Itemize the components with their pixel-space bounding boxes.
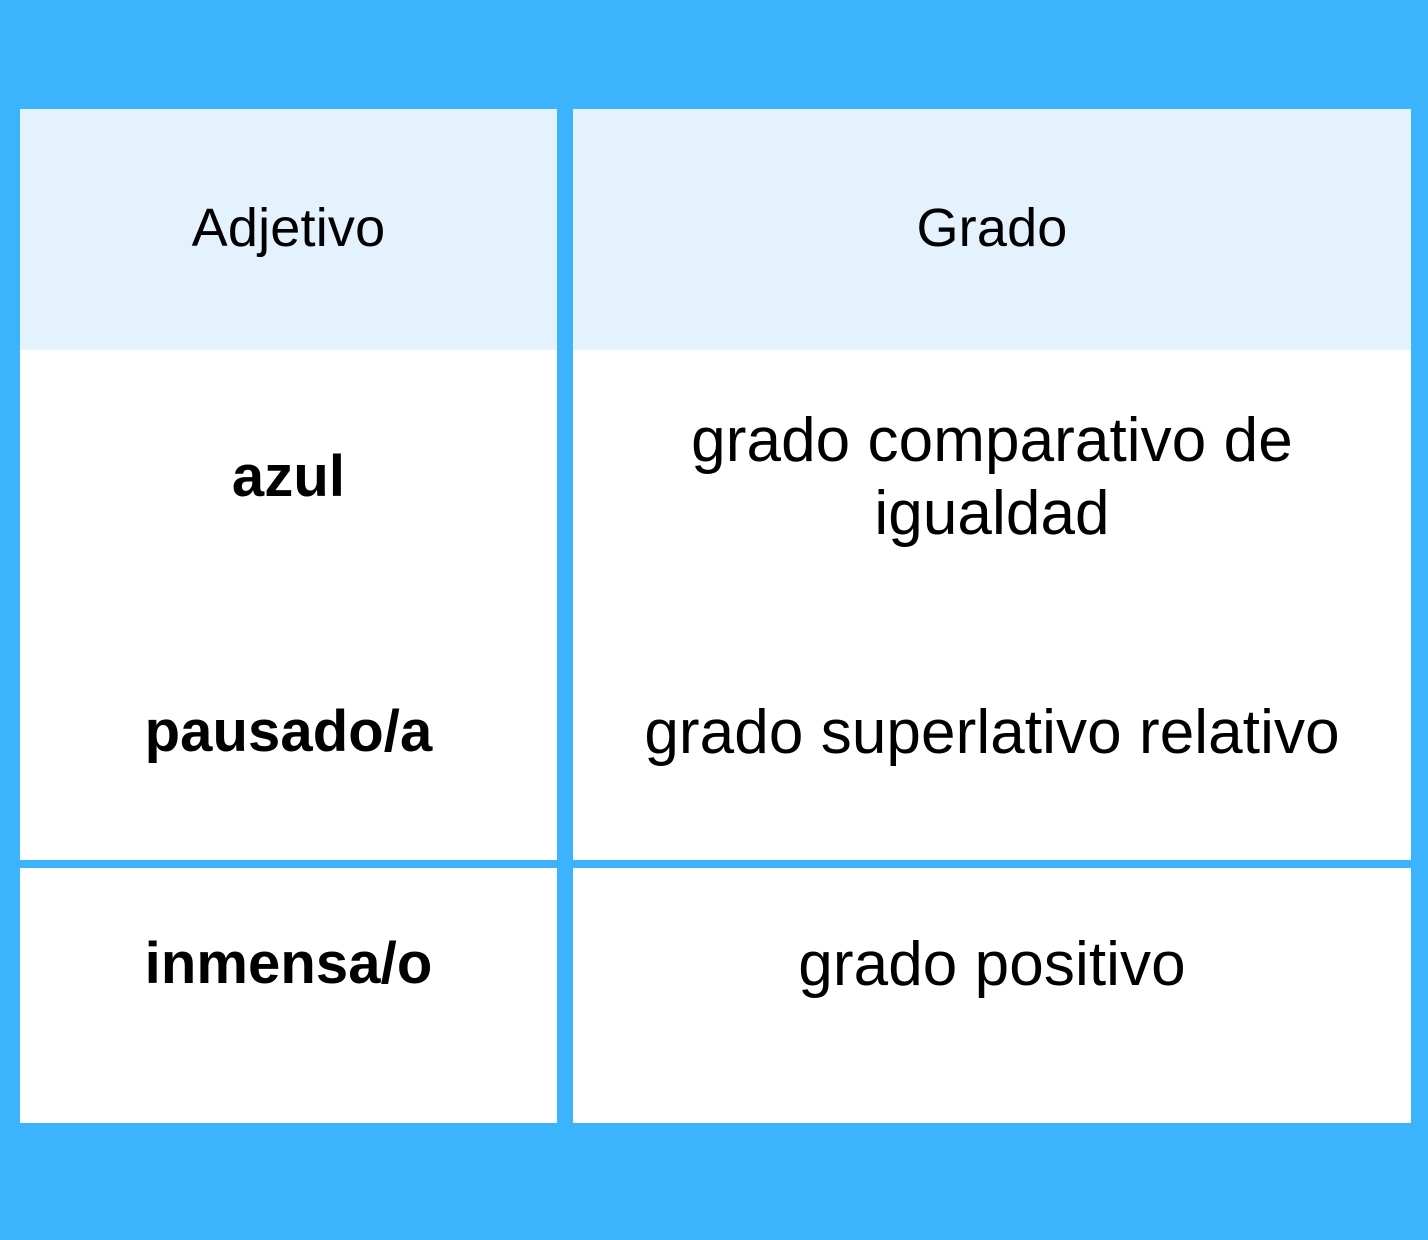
adjective-grade-table: Adjetivo Grado azul	[20, 116, 1411, 1123]
cell-grado-row-2: grado superlativo relativo	[573, 612, 1411, 867]
cell-adjetivo-row-3: inmensa/o	[20, 868, 573, 1123]
table-head: Adjetivo Grado	[20, 116, 1411, 357]
adjetivo-cell-wrapper-2: pausado/a	[20, 605, 557, 860]
column-header-adjetivo: Adjetivo	[20, 116, 573, 357]
cell-grado-row-1: grado comparativo de igualdad	[573, 357, 1411, 612]
table-row: pausado/a grado superlativo relativo	[20, 612, 1411, 867]
column-header-grado: Grado	[573, 116, 1411, 357]
column-header-grado-label: Grado	[587, 197, 1397, 261]
adjetivo-value-1: azul	[34, 443, 543, 511]
column-header-adjetivo-label: Adjetivo	[34, 197, 543, 261]
cell-adjetivo-row-1: azul	[20, 357, 573, 612]
adjetivo-cell-wrapper-1: azul	[20, 350, 557, 605]
table-row: azul grado comparativo de igualdad	[20, 357, 1411, 612]
grado-cell-wrapper-1: grado comparativo de igualdad	[573, 350, 1411, 605]
grado-cell-wrapper-3: grado positivo	[573, 868, 1411, 1123]
cell-grado-row-3: grado positivo	[573, 868, 1411, 1123]
table-row: inmensa/o grado positivo	[20, 868, 1411, 1123]
grado-value-2: grado superlativo relativo	[587, 696, 1397, 769]
grado-cell-wrapper-2: grado superlativo relativo	[573, 605, 1411, 860]
adjetivo-value-3: inmensa/o	[34, 930, 543, 998]
grado-value-3: grado positivo	[587, 928, 1397, 1001]
table-body: azul grado comparativo de igualdad pausa…	[20, 357, 1411, 1123]
grado-value-1: grado comparativo de igualdad	[587, 404, 1397, 550]
cell-adjetivo-row-2: pausado/a	[20, 612, 573, 867]
adjetivo-value-2: pausado/a	[34, 698, 543, 766]
table-header-row: Adjetivo Grado	[20, 116, 1411, 357]
header-cell-adjetivo: Adjetivo	[20, 109, 557, 350]
header-cell-grado: Grado	[573, 109, 1411, 350]
adjetivo-cell-wrapper-3: inmensa/o	[20, 868, 557, 1123]
page-root: Adjetivo Grado azul	[0, 0, 1428, 1240]
